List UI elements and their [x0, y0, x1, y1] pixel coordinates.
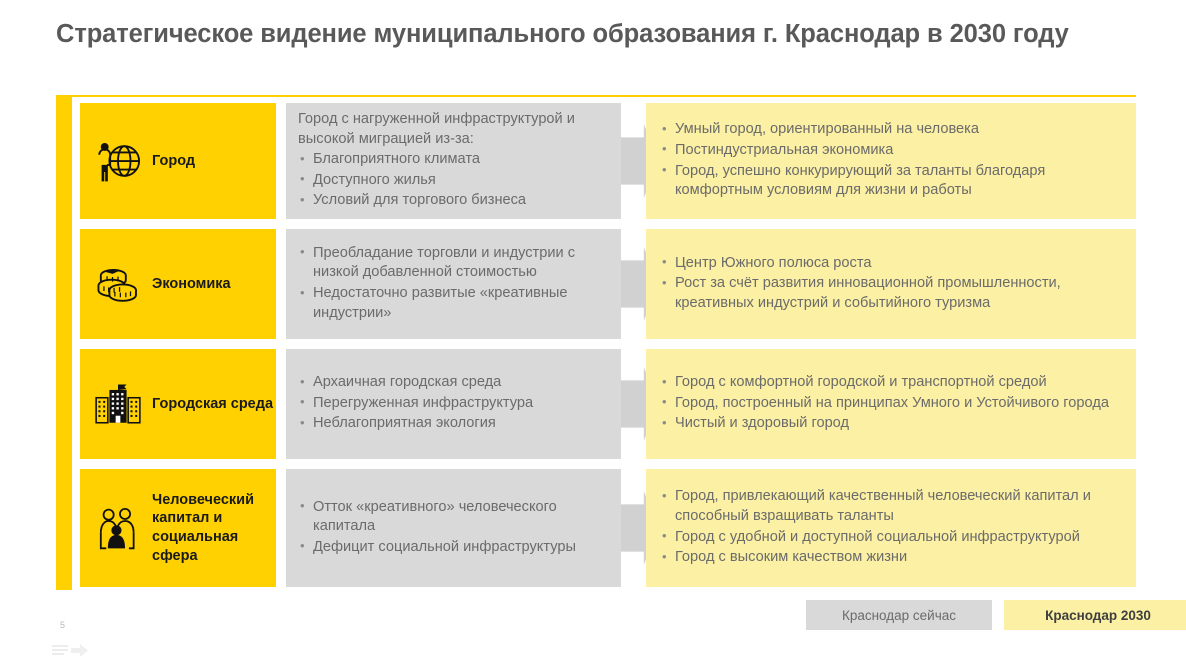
bullet-item: Благоприятного климата	[298, 150, 607, 170]
bullet-item: Город, привлекающий качественный человеч…	[660, 487, 1120, 526]
bullet-item: Город, построенный на принципах Умного и…	[660, 394, 1109, 414]
bullet-item: Город, успешно конкурирующий за таланты …	[660, 162, 1120, 201]
family-icon	[92, 502, 144, 554]
row-now-2: Преобладание торговли и индустрии с низк…	[286, 229, 621, 339]
bullet-item: Недостаточно развитые «креативные индуст…	[298, 284, 607, 323]
bullet-item: Дефицит социальной инфраструктуры	[298, 538, 607, 558]
bullet-item: Умный город, ориентированный на человека	[660, 120, 1120, 140]
future-bullet-list: Центр Южного полюса ростаРост за счёт ра…	[660, 254, 1120, 315]
legend: Краснодар сейчас Краснодар 2030	[806, 600, 1186, 630]
vision-matrix: ГородГород с нагруженной инфраструктурой…	[56, 97, 1136, 590]
row-future-2: Центр Южного полюса ростаРост за счёт ра…	[646, 229, 1136, 339]
bullet-item: Отток «креативного» человеческого капита…	[298, 498, 607, 537]
now-bullet-list: Архаичная городская средаПерегруженная и…	[298, 373, 533, 435]
page-title: Стратегическое видение муниципального об…	[56, 18, 1136, 51]
row-future-3: Город с комфортной городской и транспорт…	[646, 349, 1136, 459]
future-bullet-list: Город с комфортной городской и транспорт…	[660, 373, 1109, 435]
row-label-text: Городская среда	[152, 395, 273, 414]
future-bullet-list: Умный город, ориентированный на человека…	[660, 120, 1120, 202]
bullet-item: Доступного жилья	[298, 171, 607, 191]
legend-chip-future[interactable]: Краснодар 2030	[1004, 600, 1186, 630]
legend-chip-now[interactable]: Краснодар сейчас	[806, 600, 992, 630]
bullet-item: Перегруженная инфраструктура	[298, 394, 533, 414]
now-bullet-list: Преобладание торговли и индустрии с низк…	[298, 244, 607, 325]
matrix-row: Городская средаАрхаичная городская среда…	[56, 349, 1136, 459]
lines-icon	[52, 645, 68, 656]
row-label-text: Город	[152, 152, 195, 171]
row-now-4: Отток «креативного» человеческого капита…	[286, 469, 621, 587]
row-label-3[interactable]: Городская среда	[80, 349, 276, 459]
footer-marks	[52, 644, 88, 657]
person-globe-icon	[92, 135, 144, 187]
future-bullet-list: Город, привлекающий качественный человеч…	[660, 487, 1120, 569]
row-label-2[interactable]: Экономика	[80, 229, 276, 339]
bullet-item: Город с комфортной городской и транспорт…	[660, 373, 1109, 393]
row-label-4[interactable]: Человеческий капитал и социальная сфера	[80, 469, 276, 587]
row-now-1: Город с нагруженной инфраструктурой и вы…	[286, 103, 621, 219]
bullet-item: Город с удобной и доступной социальной и…	[660, 528, 1120, 548]
bullet-item: Преобладание торговли и индустрии с низк…	[298, 244, 607, 283]
coins-icon	[92, 258, 144, 310]
matrix-row: ГородГород с нагруженной инфраструктурой…	[56, 103, 1136, 219]
bullet-item: Условий для торгового бизнеса	[298, 191, 607, 211]
arrow-right-icon	[71, 644, 88, 657]
row-now-3: Архаичная городская средаПерегруженная и…	[286, 349, 621, 459]
buildings-icon	[92, 378, 144, 430]
row-label-text: Экономика	[152, 275, 231, 294]
now-bullet-list: Город с нагруженной инфраструктурой и вы…	[298, 110, 607, 212]
row-future-4: Город, привлекающий качественный человеч…	[646, 469, 1136, 587]
bullet-item: Центр Южного полюса роста	[660, 254, 1120, 274]
row-future-1: Умный город, ориентированный на человека…	[646, 103, 1136, 219]
bullet-item: Чистый и здоровый город	[660, 414, 1109, 434]
matrix-row: ЭкономикаПреобладание торговли и индустр…	[56, 229, 1136, 339]
bullet-item: Рост за счёт развития инновационной пром…	[660, 274, 1120, 313]
bullet-item: Неблагоприятная экология	[298, 414, 533, 434]
matrix-row: Человеческий капитал и социальная сфераО…	[56, 469, 1136, 587]
row-label-text: Человеческий капитал и социальная сфера	[152, 491, 276, 565]
bullet-item: Город с высоким качеством жизни	[660, 548, 1120, 568]
row-label-1[interactable]: Город	[80, 103, 276, 219]
page-number: 5	[60, 620, 65, 630]
bullet-item: Постиндустриальная экономика	[660, 141, 1120, 161]
now-bullet-list: Отток «креативного» человеческого капита…	[298, 498, 607, 559]
bullet-item: Город с нагруженной инфраструктурой и вы…	[298, 110, 607, 149]
bullet-item: Архаичная городская среда	[298, 373, 533, 393]
